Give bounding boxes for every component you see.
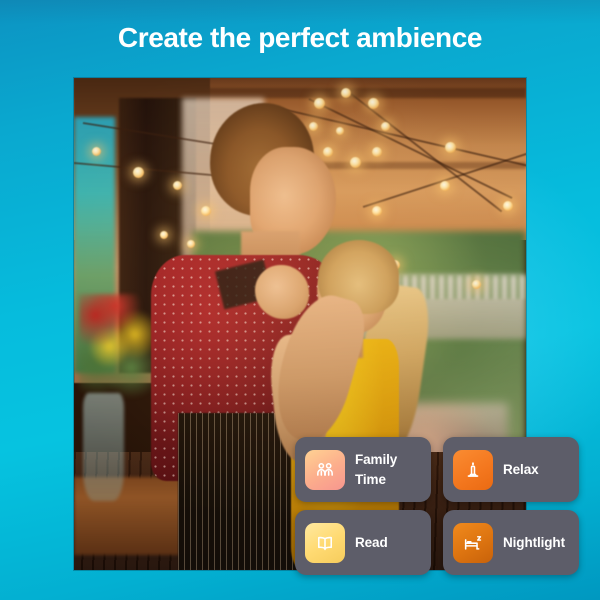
string-light-bulb (472, 280, 481, 289)
string-light-bulb (314, 98, 325, 109)
page-title: Create the perfect ambience (0, 22, 600, 54)
string-light-bulb (160, 231, 168, 239)
string-light-bulb (201, 206, 211, 216)
clasped-hands (255, 265, 309, 319)
string-light-bulb (350, 157, 361, 168)
string-light-bulb (445, 142, 456, 153)
scene-card-label: Nightlight (503, 533, 565, 553)
glass-vase (83, 393, 124, 501)
scene-card-relax[interactable]: Relax (443, 437, 579, 502)
bed-sleep-icon (453, 523, 493, 563)
string-light-bulb (368, 98, 379, 109)
scene-card-label: Read (355, 533, 388, 553)
ad-canvas: Create the perfect ambience (0, 0, 600, 600)
scene-card-read[interactable]: Read (295, 510, 431, 575)
family-group-icon (305, 450, 345, 490)
string-light-bulb (133, 167, 144, 178)
scene-card-label: Relax (503, 460, 539, 480)
string-light-bulb (341, 88, 351, 98)
scene-card-family-time[interactable]: Family Time (295, 437, 431, 502)
string-light-bulb (92, 147, 101, 156)
open-book-icon (305, 523, 345, 563)
string-light-bulb (323, 147, 333, 157)
scene-card-nightlight[interactable]: Nightlight (443, 510, 579, 575)
candle-icon (453, 450, 493, 490)
scene-card-grid: Family Time Relax Read (295, 437, 587, 575)
scene-card-label: Family Time (355, 450, 421, 489)
